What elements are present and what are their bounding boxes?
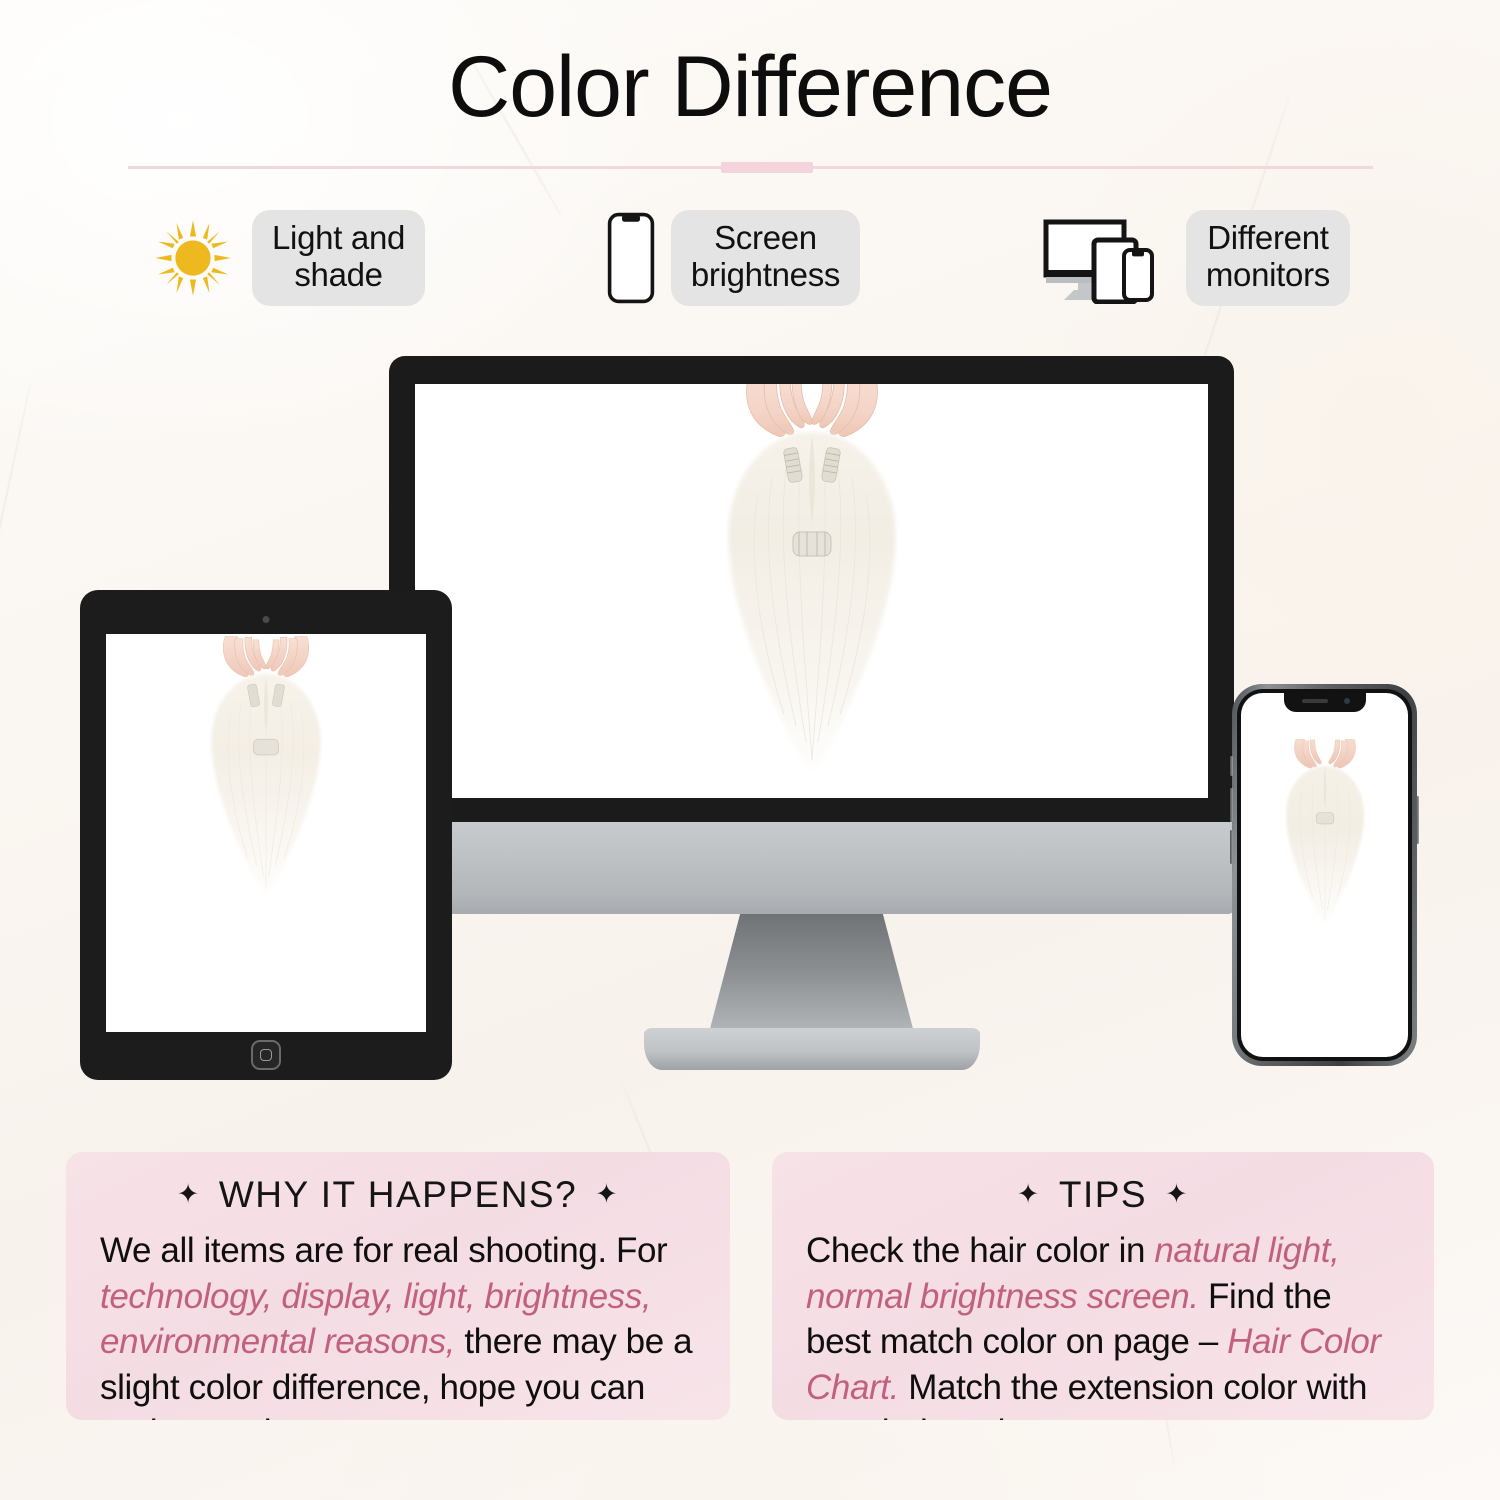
why-heading-text: WHY IT HAPPENS?	[219, 1174, 577, 1215]
tablet-camera-icon	[263, 616, 270, 623]
sparkle-icon: ✦	[1017, 1179, 1041, 1209]
why-it-happens-card: ✦WHY IT HAPPENS?✦ We all items are for r…	[66, 1152, 730, 1420]
monitor-stand-foot	[644, 1028, 980, 1070]
sparkle-icon: ✦	[177, 1179, 201, 1209]
tablet	[80, 590, 452, 1080]
smartphone	[1232, 684, 1417, 1066]
body-text: Check the hair color in	[806, 1231, 1154, 1270]
phone-frame	[1232, 684, 1417, 1066]
monitor-stand-neck	[707, 914, 917, 1042]
hair-topper-product-image	[662, 384, 962, 798]
hair-topper-product-image	[168, 636, 364, 986]
tablet-home-button[interactable]	[251, 1040, 281, 1070]
page-background: Color Difference	[0, 0, 1500, 1500]
sparkle-icon: ✦	[595, 1179, 619, 1209]
phone-volume-up-button[interactable]	[1230, 788, 1233, 822]
monitor-screen	[415, 384, 1208, 798]
tips-heading-text: TIPS	[1059, 1174, 1147, 1215]
monitor-bezel	[389, 356, 1234, 822]
phone-power-button[interactable]	[1416, 796, 1419, 844]
phone-screen	[1241, 693, 1408, 1057]
phone-notch	[1284, 693, 1366, 712]
why-it-happens-heading: ✦WHY IT HAPPENS?✦	[100, 1174, 696, 1216]
tips-heading: ✦TIPS✦	[806, 1174, 1400, 1216]
monitor-chin	[389, 822, 1234, 914]
desktop-monitor	[389, 356, 1234, 914]
body-text: We all items are for real shooting. For	[100, 1231, 667, 1270]
phone-bezel	[1237, 689, 1412, 1061]
hair-topper-product-image	[1255, 739, 1395, 989]
tablet-bezel	[80, 590, 452, 1080]
phone-volume-down-button[interactable]	[1230, 830, 1233, 864]
sparkle-icon: ✦	[1165, 1179, 1189, 1209]
tablet-screen	[106, 634, 426, 1032]
phone-mute-switch[interactable]	[1230, 756, 1233, 776]
tips-card: ✦TIPS✦ Check the hair color in natural l…	[772, 1152, 1434, 1420]
tips-body: Check the hair color in natural light, n…	[806, 1228, 1400, 1420]
why-it-happens-body: We all items are for real shooting. For …	[100, 1228, 696, 1420]
